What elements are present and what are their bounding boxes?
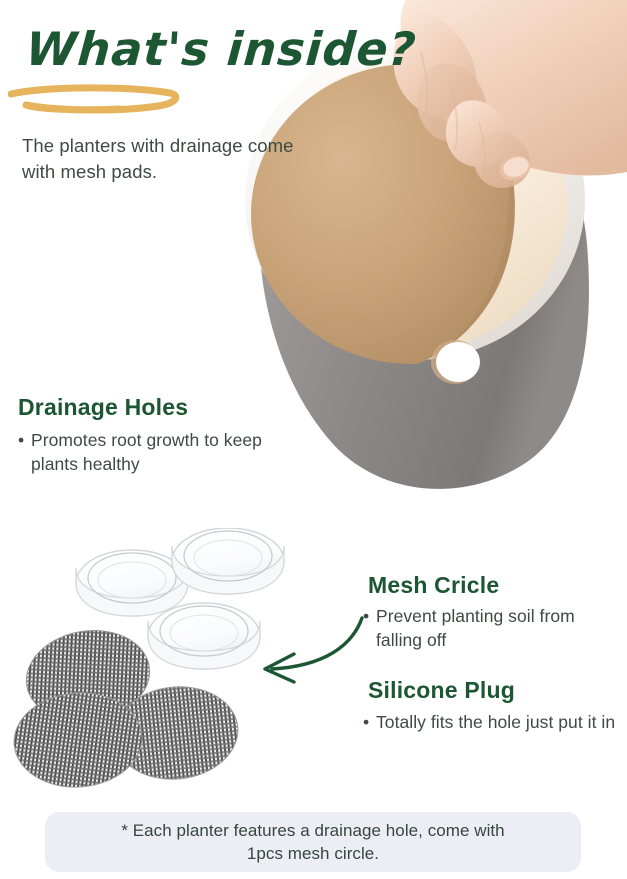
footer-note-line1: * Each planter features a drainage hole,… (121, 821, 504, 840)
silicone-plug (76, 550, 188, 616)
infographic-page: What's inside? The planters with drainag… (0, 0, 627, 879)
footer-note-text: * Each planter features a drainage hole,… (121, 819, 504, 865)
bullet-marker-icon: • (363, 604, 369, 628)
section-bullet-text: Promotes root growth to keep plants heal… (18, 428, 268, 476)
section-title-silicone-plug: Silicone Plug (368, 677, 515, 704)
planter-photo (215, 0, 627, 512)
planter-photo-svg (215, 0, 627, 512)
section-body-mesh-circle: • Prevent planting soil from falling off (363, 604, 613, 652)
page-subtitle: The planters with drainage come with mes… (22, 133, 302, 186)
section-bullet-text: Totally fits the hole just put it in (363, 710, 618, 734)
section-body-silicone-plug: • Totally fits the hole just put it in (363, 710, 618, 734)
bullet-marker-icon: • (18, 428, 24, 452)
products-photo (10, 528, 355, 808)
page-title: What's inside? (24, 26, 418, 72)
section-title-mesh-circle: Mesh Cricle (368, 572, 499, 599)
section-title-drainage-holes: Drainage Holes (18, 394, 188, 421)
section-body-drainage-holes: • Promotes root growth to keep plants he… (18, 428, 268, 476)
bullet-marker-icon: • (363, 710, 369, 734)
silicone-plug (172, 528, 284, 594)
footer-note: * Each planter features a drainage hole,… (45, 812, 581, 872)
swoosh-underline-icon (8, 84, 183, 114)
footer-note-line2: 1pcs mesh circle. (247, 844, 379, 863)
section-bullet-text: Prevent planting soil from falling off (363, 604, 613, 652)
products-photo-svg (10, 528, 355, 808)
silicone-plug (148, 603, 260, 669)
